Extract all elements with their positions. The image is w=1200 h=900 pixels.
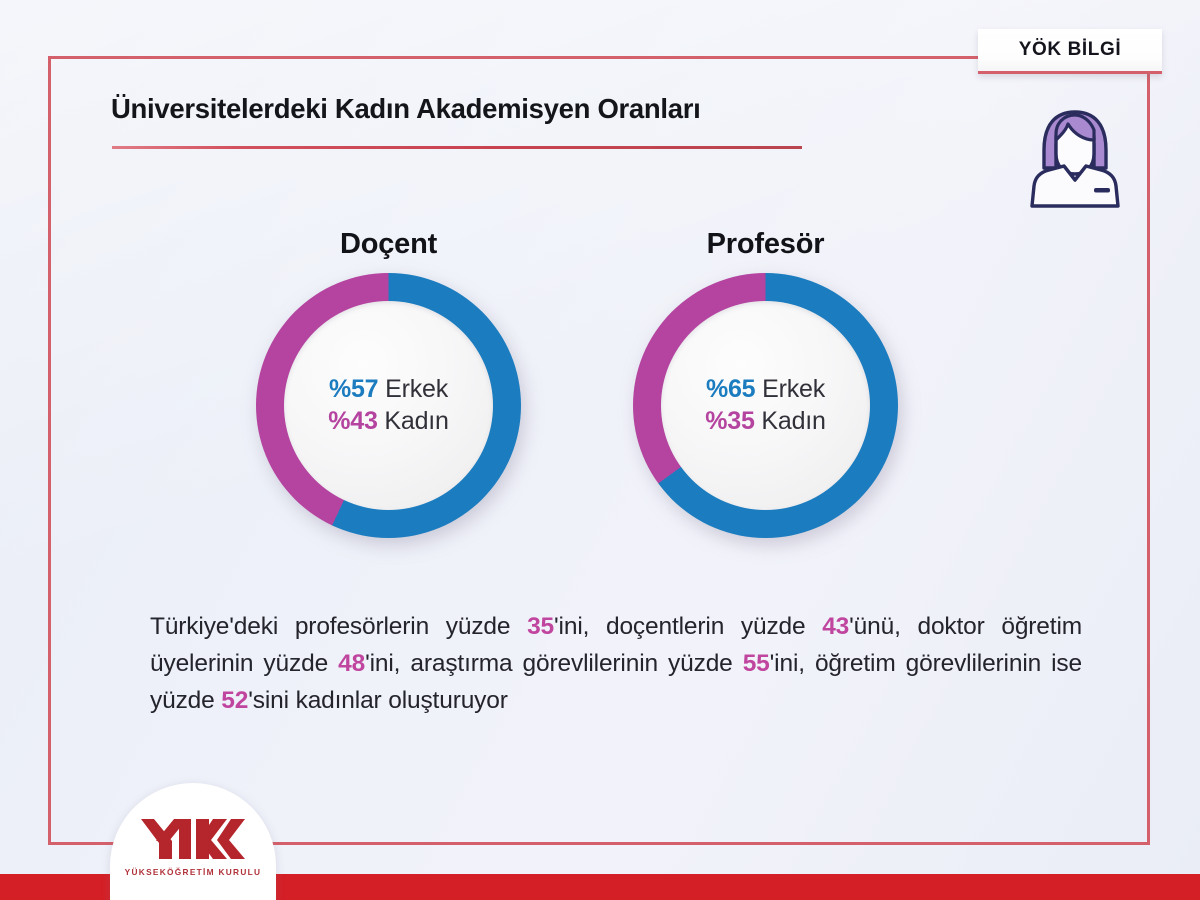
para-number-52: 52 (221, 687, 248, 714)
donut-female-line-docent: %43 Kadın (328, 406, 449, 438)
donut-chart-docent: Doçent %57 Erkek %43 Kadın (256, 228, 521, 538)
summary-paragraph: Türkiye'deki profesörlerin yüzde 35'ini,… (150, 608, 1082, 720)
donut-center-docent: %57 Erkek %43 Kadın (284, 301, 493, 510)
page-title: Üniversitelerdeki Kadın Akademisyen Oran… (111, 93, 701, 125)
para-number-43: 43 (822, 613, 849, 640)
yok-bilgi-badge-label: YÖK BİLGİ (1019, 39, 1122, 61)
yok-logo-caption: YÜKSEKÖĞRETİM KURULU (125, 867, 262, 877)
donut-male-pct-profesor: %65 (706, 375, 755, 403)
donut-chart-profesor: Profesör %65 Erkek %35 Kadın (633, 228, 898, 538)
donut-female-pct-docent: %43 (328, 407, 377, 435)
para-text-6: 'sini kadınlar oluşturuyor (248, 687, 508, 714)
donut-male-label-profesor: Erkek (762, 375, 825, 403)
donut-title-docent: Doçent (256, 228, 521, 261)
donut-male-line-profesor: %65 Erkek (706, 374, 825, 406)
para-number-35: 35 (527, 613, 554, 640)
donut-female-pct-profesor: %35 (705, 407, 754, 435)
donut-male-label-docent: Erkek (385, 375, 448, 403)
para-text-1: Türkiye'deki profesörlerin yüzde (150, 613, 527, 640)
donut-male-line-docent: %57 Erkek (329, 374, 448, 406)
donut-female-label-profesor: Kadın (761, 407, 825, 435)
para-text-2: 'ini, doçentlerin yüzde (554, 613, 822, 640)
female-academic-icon (1022, 104, 1128, 208)
para-text-4: 'ini, araştırma görevlilerinin yüzde (365, 650, 743, 677)
infographic-canvas: Üniversitelerdeki Kadın Akademisyen Oran… (0, 0, 1200, 900)
donut-ring-docent: %57 Erkek %43 Kadın (256, 273, 521, 538)
yok-logo-icon (141, 817, 245, 861)
donut-male-pct-docent: %57 (329, 375, 378, 403)
summary-paragraph-body: Türkiye'deki profesörlerin yüzde 35'ini,… (150, 608, 1082, 720)
donut-female-label-docent: Kadın (384, 407, 448, 435)
red-frame-border (48, 56, 1150, 845)
para-number-55: 55 (743, 650, 770, 677)
title-underline-rule (112, 146, 802, 149)
yok-bilgi-badge: YÖK BİLGİ (978, 29, 1162, 74)
donut-center-profesor: %65 Erkek %35 Kadın (661, 301, 870, 510)
para-number-48: 48 (338, 650, 365, 677)
donut-female-line-profesor: %35 Kadın (705, 406, 826, 438)
donut-ring-profesor: %65 Erkek %35 Kadın (633, 273, 898, 538)
donut-title-profesor: Profesör (633, 228, 898, 261)
